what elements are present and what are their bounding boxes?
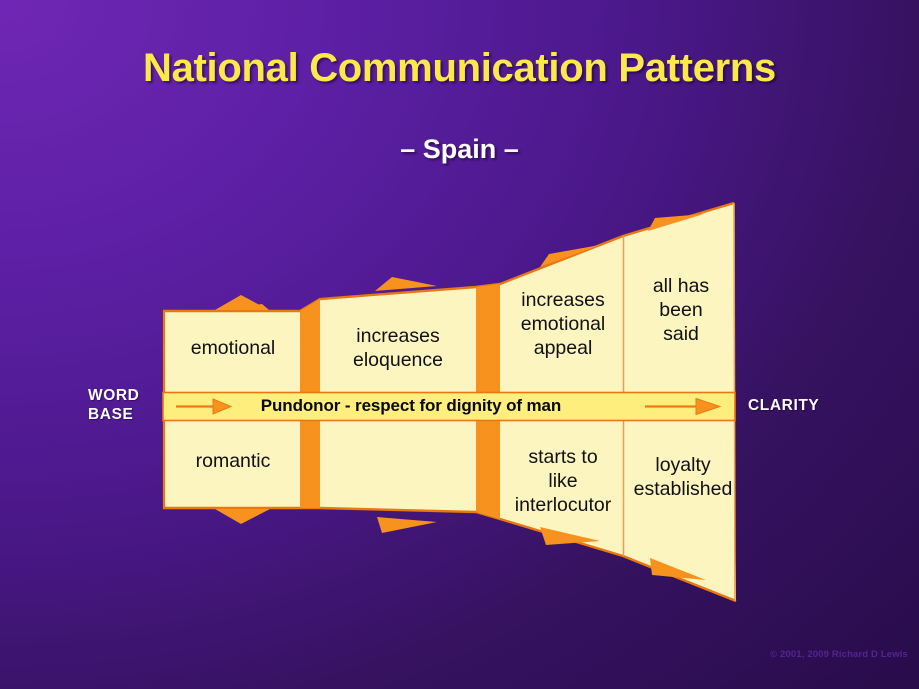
- funnel-cell-upper-2: increases eloquence: [322, 324, 474, 372]
- funnel-cell-lower-1: romantic: [168, 449, 298, 473]
- word-base-label: WORD BASE: [88, 386, 139, 424]
- slide-canvas: National Communication Patterns – Spain …: [0, 0, 919, 689]
- funnel-cell-upper-4: all has been said: [627, 274, 735, 346]
- bottom-edge-arrow-2-icon: [377, 517, 437, 533]
- funnel-cell-lower-4: loyalty established: [627, 453, 739, 501]
- top-edge-arrow-1-icon: [215, 295, 269, 310]
- bottom-edge-arrow-1-icon: [215, 509, 270, 524]
- divider-bar-1-upper: [300, 299, 320, 393]
- clarity-label: CLARITY: [748, 396, 819, 415]
- divider-bar-2-upper: [476, 284, 500, 393]
- divider-bar-2-lower: [476, 420, 500, 519]
- divider-bar-1-lower: [300, 420, 320, 508]
- funnel-cell-lower-3: starts to like interlocutor: [502, 445, 624, 517]
- pundonor-band-text: Pundonor - respect for dignity of man: [231, 396, 591, 416]
- copyright-notice: © 2001, 2009 Richard D Lewis: [0, 649, 908, 660]
- funnel-cell-upper-1: emotional: [168, 336, 298, 360]
- top-edge-arrow-2-icon: [375, 277, 437, 291]
- funnel-cell-upper-3: increases emotional appeal: [502, 288, 624, 360]
